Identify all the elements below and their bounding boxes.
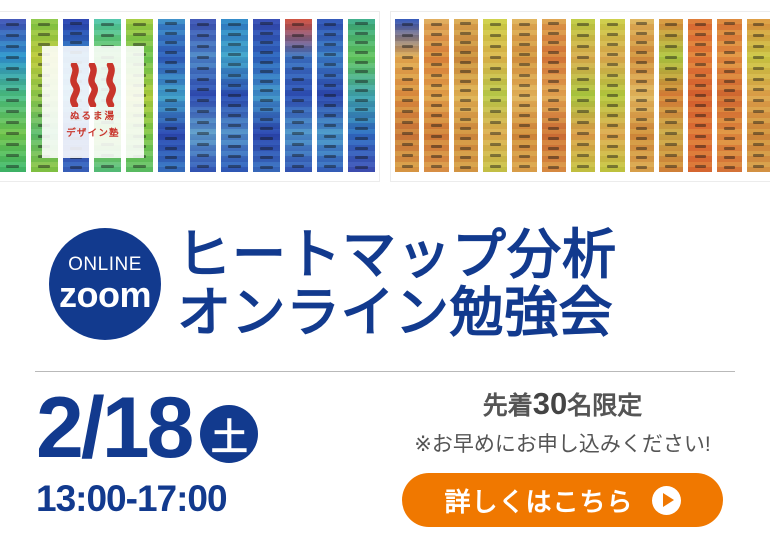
page-title-line-1: ヒートマップ分析 xyxy=(177,226,617,284)
heatmap-click-markers xyxy=(512,19,536,172)
heatmap-click-markers xyxy=(395,19,419,172)
heatmap-column xyxy=(600,19,624,172)
heatmap-click-markers xyxy=(424,19,448,172)
heatmap-column xyxy=(395,19,419,172)
heatmap-click-markers xyxy=(571,19,595,172)
heatmap-click-markers xyxy=(190,19,217,172)
page-title-line-2: オンライン勉強会 xyxy=(177,284,617,342)
heatmap-column xyxy=(221,19,248,172)
heatmap-click-markers xyxy=(253,19,280,172)
badge-online-label: ONLINE xyxy=(68,255,142,274)
heatmap-click-markers xyxy=(659,19,683,172)
hurry-note: ※お早めにお申し込みください! xyxy=(414,428,710,458)
badge-zoom-label: zoom xyxy=(59,277,151,313)
heatmap-click-markers xyxy=(717,19,741,172)
capacity-suffix: 名限定 xyxy=(567,392,642,420)
online-zoom-badge: ONLINE zoom xyxy=(49,228,161,340)
heatmap-column xyxy=(454,19,478,172)
day-of-week-badge: 土 xyxy=(200,405,258,463)
heatmap-click-markers xyxy=(454,19,478,172)
heatmap-column xyxy=(717,19,741,172)
brand-logo: ぬるま湯 デザイン塾 xyxy=(42,46,144,158)
heatmap-columns-warm xyxy=(391,19,770,172)
heatmap-column xyxy=(348,19,375,172)
details-button[interactable]: 詳しくはこちら xyxy=(402,473,723,527)
heatmap-click-markers xyxy=(221,19,248,172)
heatmap-column xyxy=(630,19,654,172)
heatmap-click-markers xyxy=(600,19,624,172)
details-button-label: 詳しくはこちら xyxy=(444,482,633,519)
heatmap-column xyxy=(659,19,683,172)
bottom-section: 2/18 土 13:00-17:00 先着30名限定 ※お早めにお申し込みくださ… xyxy=(0,380,770,560)
heatmap-click-markers xyxy=(688,19,712,172)
heatmap-column xyxy=(317,19,344,172)
heatmap-click-markers xyxy=(317,19,344,172)
heatmap-click-markers xyxy=(158,19,185,172)
page-title: ヒートマップ分析 オンライン勉強会 xyxy=(177,226,617,343)
heatmap-click-markers xyxy=(542,19,566,172)
title-row: ONLINE zoom ヒートマップ分析 オンライン勉強会 xyxy=(0,200,770,368)
heatmap-click-markers xyxy=(747,19,770,172)
heatmap-panel-warm xyxy=(390,11,770,182)
date-row: 2/18 土 xyxy=(36,380,385,476)
heatmap-click-markers xyxy=(630,19,654,172)
schedule-block: 2/18 土 13:00-17:00 xyxy=(0,380,385,560)
heatmap-hero: ぬるま湯 デザイン塾 xyxy=(0,0,770,195)
heatmap-column xyxy=(158,19,185,172)
heatmap-column xyxy=(190,19,217,172)
heatmap-column xyxy=(512,19,536,172)
hot-spring-steam-icon xyxy=(65,63,121,107)
heatmap-click-markers xyxy=(285,19,312,172)
heatmap-column xyxy=(285,19,312,172)
heatmap-click-markers xyxy=(483,19,507,172)
heatmap-column xyxy=(424,19,448,172)
capacity-limit-text: 先着30名限定 xyxy=(483,386,643,422)
capacity-prefix: 先着 xyxy=(483,392,533,420)
section-divider xyxy=(35,371,735,372)
info-block: 先着30名限定 ※お早めにお申し込みください! 詳しくはこちら xyxy=(385,380,770,560)
heatmap-click-markers xyxy=(348,19,375,172)
heatmap-column xyxy=(0,19,26,172)
logo-line-2: デザイン塾 xyxy=(66,127,120,141)
heatmap-column xyxy=(571,19,595,172)
seminar-banner: ぬるま湯 デザイン塾 ONLINE zoom ヒートマップ分析 オンライン勉強会… xyxy=(0,0,770,560)
capacity-number: 30 xyxy=(533,386,567,421)
heatmap-column xyxy=(542,19,566,172)
play-triangle-icon xyxy=(652,486,681,515)
heatmap-column xyxy=(483,19,507,172)
heatmap-panel-cool: ぬるま湯 デザイン塾 xyxy=(0,11,380,182)
event-date: 2/18 xyxy=(36,385,191,471)
event-time: 13:00-17:00 xyxy=(36,478,385,520)
heatmap-column xyxy=(747,19,770,172)
heatmap-column xyxy=(253,19,280,172)
heatmap-click-markers xyxy=(0,19,26,172)
logo-line-1: ぬるま湯 xyxy=(70,110,116,124)
heatmap-column xyxy=(688,19,712,172)
